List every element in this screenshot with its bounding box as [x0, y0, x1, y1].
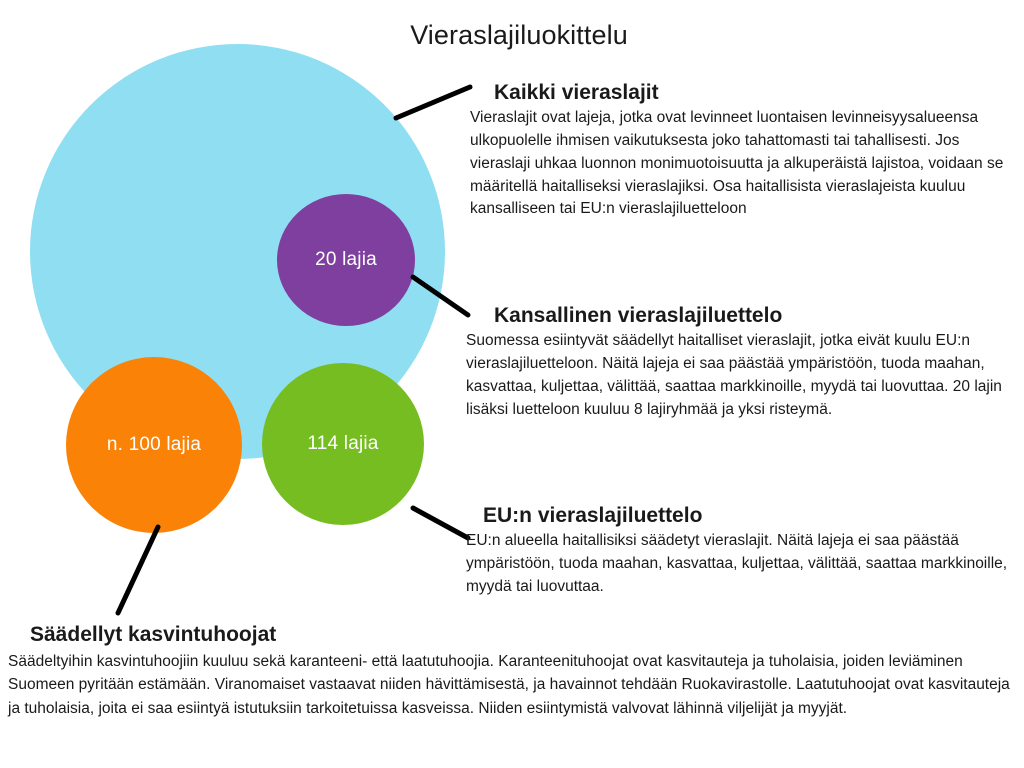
callout-all-invasive-species: Kaikki vieraslajit Vieraslajit ovat laje… — [466, 80, 1018, 221]
bubble-eu-label: 114 lajia — [307, 433, 378, 455]
callout-eu-heading: EU:n vieraslajiluettelo — [466, 503, 1018, 528]
bubble-eu-list[interactable]: 114 lajia — [262, 363, 424, 525]
callout-plant-pests-heading: Säädellyt kasvintuhoojat — [8, 622, 1018, 647]
bubble-national-list[interactable]: 20 lajia — [277, 194, 415, 326]
infographic-canvas: Vieraslajiluokittelu n. 100 lajia 114 la… — [0, 0, 1024, 768]
callout-eu-list: EU:n vieraslajiluettelo EU:n alueella ha… — [466, 503, 1018, 599]
callout-national-body: Suomessa esiintyvät säädellyt haitallise… — [466, 330, 1018, 421]
callout-all-body: Vieraslajit ovat lajeja, jotka ovat levi… — [466, 107, 1018, 221]
bubble-diagram: n. 100 lajia 114 lajia 20 lajia — [0, 0, 500, 650]
bubble-regulated-plant-pests[interactable]: n. 100 lajia — [66, 357, 242, 533]
callout-eu-body: EU:n alueella haitallisiksi säädetyt vie… — [466, 530, 1018, 598]
callout-national-heading: Kansallinen vieraslajiluettelo — [466, 303, 1018, 328]
callout-plant-pests-body: Säädeltyihin kasvintuhoojiin kuuluu sekä… — [8, 650, 1018, 720]
bubble-national-label: 20 lajia — [315, 249, 377, 271]
callout-regulated-plant-pests: Säädellyt kasvintuhoojat Säädeltyihin ka… — [8, 622, 1018, 720]
callout-national-list: Kansallinen vieraslajiluettelo Suomessa … — [466, 303, 1018, 421]
callout-all-heading: Kaikki vieraslajit — [466, 80, 1018, 105]
bubble-plant-pests-label: n. 100 lajia — [107, 434, 201, 456]
